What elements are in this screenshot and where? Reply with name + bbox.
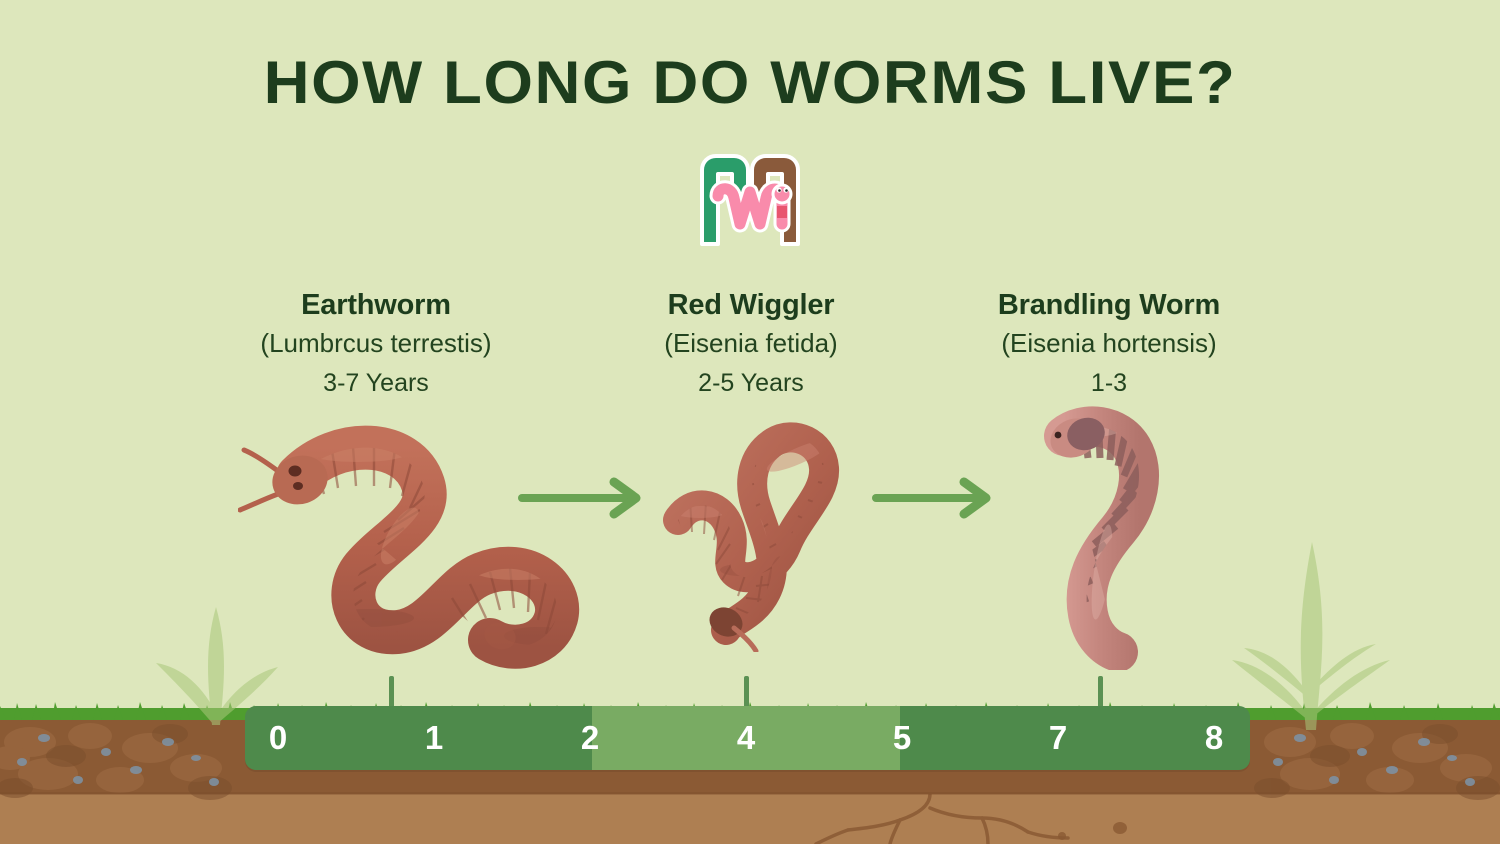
timeline-tick-2: 2: [570, 706, 610, 770]
timeline-marker-brandling-worm: [1098, 676, 1103, 710]
species-common-name: Earthworm: [226, 290, 526, 321]
species-common-name: Brandling Worm: [958, 290, 1260, 321]
timeline-tick-0: 0: [258, 706, 298, 770]
timeline-tick-8: 8: [1194, 706, 1234, 770]
species-card-red-wiggler: Red Wiggler (Eisenia fetida) 2-5 Years: [612, 290, 890, 397]
species-scientific-name: (Eisenia fetida): [612, 329, 890, 357]
species-lifespan: 1-3: [958, 370, 1260, 397]
arrow-right-icon: [872, 476, 996, 520]
species-common-name: Red Wiggler: [612, 290, 890, 321]
timeline-marker-red-wiggler: [744, 676, 749, 710]
species-lifespan: 3-7 Years: [226, 370, 526, 397]
timeline-axis: 0 1 2 4 5 7 8: [245, 706, 1250, 770]
timeline-tick-4: 4: [726, 706, 766, 770]
species-card-brandling-worm: Brandling Worm (Eisenia hortensis) 1-3: [958, 290, 1260, 397]
species-card-earthworm: Earthworm (Lumbrcus terrestis) 3-7 Years: [226, 290, 526, 397]
timeline-marker-earthworm: [389, 676, 394, 710]
earthworm-illustration: [238, 418, 586, 674]
species-scientific-name: (Lumbrcus terrestis): [226, 329, 526, 357]
page-title: HOW LONG DO WORMS LIVE?: [0, 48, 1500, 117]
timeline-tick-7: 7: [1038, 706, 1078, 770]
species-scientific-name: (Eisenia hortensis): [958, 329, 1260, 357]
infographic-canvas: HOW LONG DO WORMS LIVE? Earthworm (Lumbr…: [0, 0, 1500, 844]
timeline-tick-1: 1: [414, 706, 454, 770]
species-lifespan: 2-5 Years: [612, 370, 890, 397]
red-wiggler-illustration: [656, 420, 876, 652]
brandling-worm-illustration: [1030, 402, 1206, 670]
worm-logo: [692, 148, 808, 252]
plant-right-icon: [1220, 520, 1400, 730]
timeline-tick-5: 5: [882, 706, 922, 770]
